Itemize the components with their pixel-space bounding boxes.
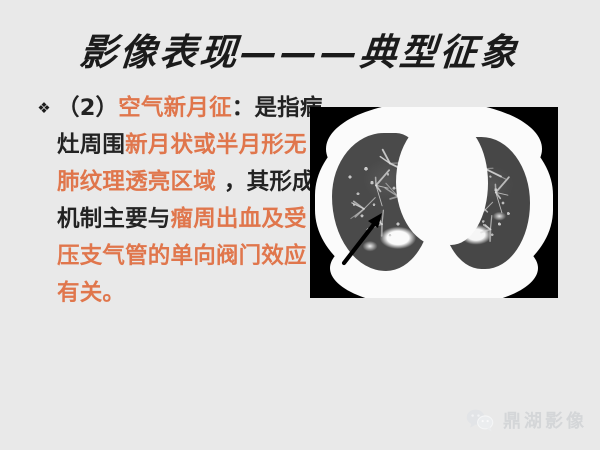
slide-canvas: 影像表现———典型征象 ❖ （2）空气新月征：是指病灶周围新月状或半月形无肺纹理…	[0, 0, 600, 450]
ct-image-panel[interactable]	[310, 107, 558, 298]
highlighted-term: 肺纹理透亮区域	[57, 169, 216, 195]
bullet-diamond-icon: ❖	[36, 90, 52, 127]
highlighted-term: 压支气管的单向阀门效应	[57, 243, 307, 269]
highlighted-term: 新月状或半月形无	[125, 132, 307, 158]
watermark-label: 鼎湖影像	[503, 407, 587, 433]
text-line: 肺纹理透亮区域 ，其形成	[34, 164, 302, 201]
text-line: （2）空气新月征：是指病	[34, 90, 302, 127]
body-text: ：是指病	[232, 95, 323, 121]
body-text: （2）	[57, 95, 118, 121]
text-line: 有关。	[34, 275, 302, 312]
left-mediastinal-border	[414, 121, 488, 245]
wechat-icon	[466, 408, 494, 432]
ct-image	[310, 107, 558, 298]
watermark: 鼎湖影像	[466, 405, 587, 435]
highlighted-term: 空气新月征	[118, 95, 232, 121]
page-title: 影像表现———典型征象	[0, 22, 600, 76]
text-lines: （2）空气新月征：是指病灶周围新月状或半月形无肺纹理透亮区域 ，其形成机制主要与…	[34, 90, 302, 312]
text-line: 压支气管的单向阀门效应	[34, 238, 302, 275]
highlighted-term: 有关。	[57, 280, 125, 306]
highlighted-term: 瘤周出血及受	[171, 206, 307, 232]
body-text: 灶周围	[57, 132, 125, 158]
text-line: 机制主要与瘤周出血及受	[34, 201, 302, 238]
text-line: 灶周围新月状或半月形无	[34, 127, 302, 164]
body-text: ，其形成	[216, 169, 315, 195]
body-text: 机制主要与	[57, 206, 171, 232]
bullet-text-block: ❖ （2）空气新月征：是指病灶周围新月状或半月形无肺纹理透亮区域 ，其形成机制主…	[34, 90, 302, 312]
